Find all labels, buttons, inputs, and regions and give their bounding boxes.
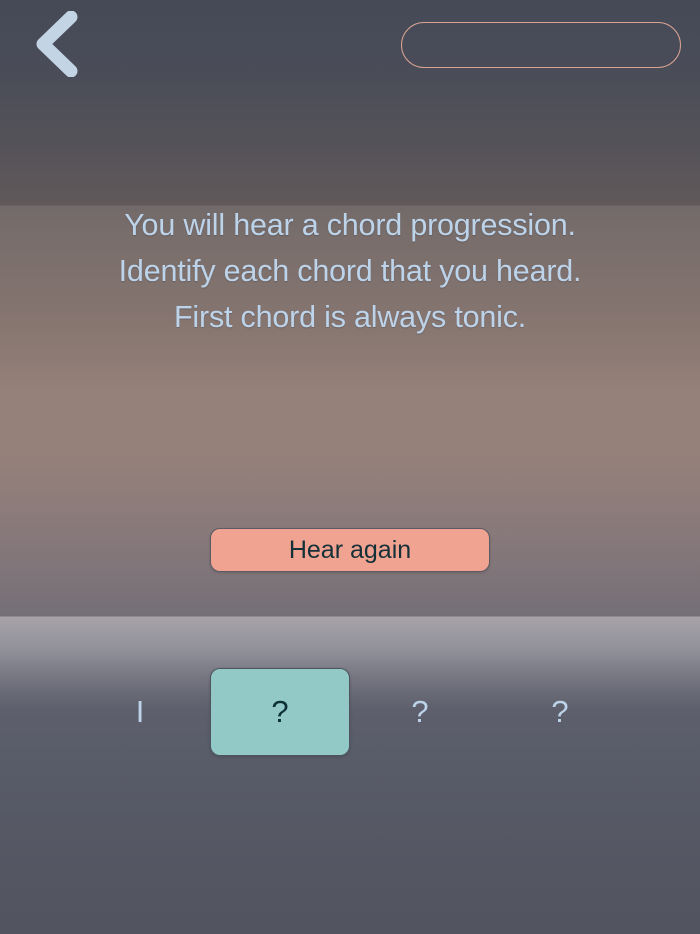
instructions-text: You will hear a chord progression. Ident… [0, 202, 700, 340]
chord-slot-1[interactable]: I [70, 668, 210, 756]
top-bar [0, 0, 700, 90]
progression-slots: I ? ? ? [0, 668, 700, 760]
chord-slot-2[interactable]: ? [210, 668, 350, 756]
app-root: You will hear a chord progression. Ident… [0, 0, 700, 934]
chord-slot-3[interactable]: ? [350, 668, 490, 756]
hear-again-button[interactable]: Hear again [210, 528, 490, 572]
instructions-line-1: You will hear a chord progression. [0, 202, 700, 248]
instructions-line-3: First chord is always tonic. [0, 294, 700, 340]
instructions-line-2: Identify each chord that you heard. [0, 248, 700, 294]
chord-slot-4[interactable]: ? [490, 668, 630, 756]
back-button[interactable] [24, 8, 88, 80]
score-pill [401, 22, 681, 68]
chevron-left-icon [33, 11, 79, 77]
